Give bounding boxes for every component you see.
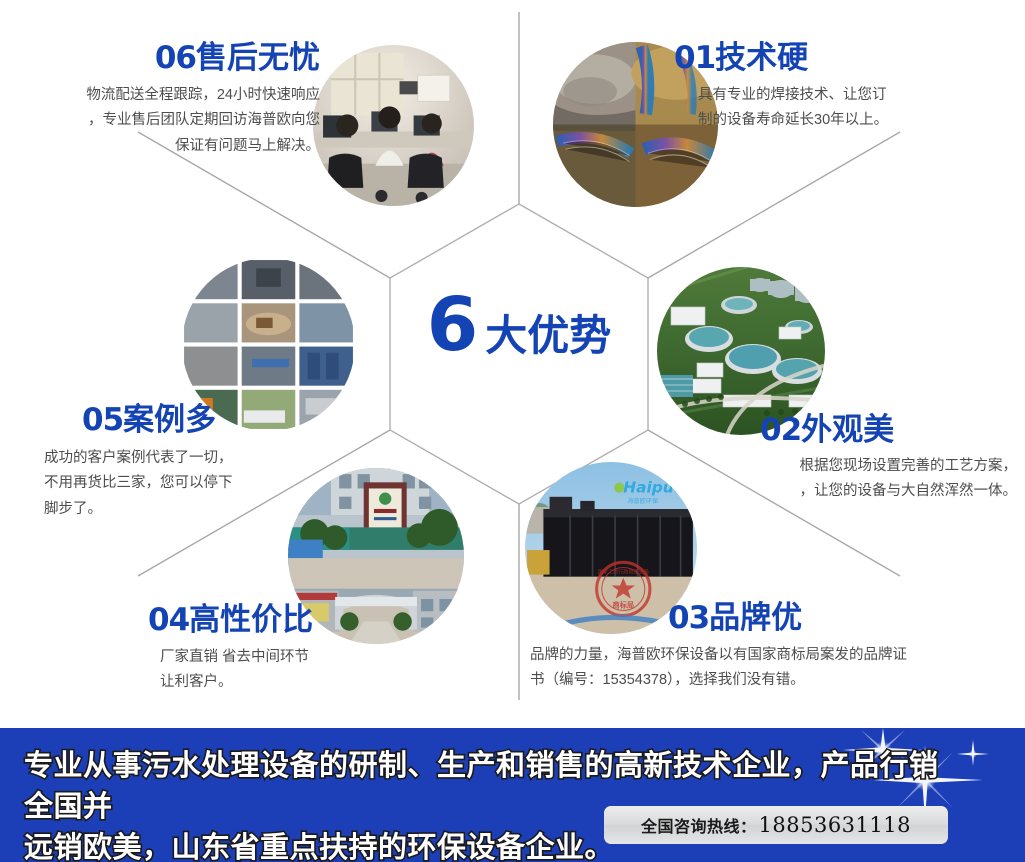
feature-title-03: 03品牌优: [530, 602, 990, 634]
feature-title-02: 02外观美: [700, 414, 1025, 446]
feature-body-04: 厂家直销 省去中间环节 让利客户。: [120, 645, 450, 696]
hotline-badge[interactable]: 全国咨询热线： 18853631118: [604, 806, 948, 844]
feature-number-04: 04: [148, 602, 189, 638]
center-label-text: 大优势: [485, 315, 611, 357]
svg-text:海普欧环保: 海普欧环保: [627, 497, 658, 505]
feature-block-02: 02外观美 根据您现场设置完善的工艺方案， ，让您的设备与大自然浑然一体。: [700, 414, 1025, 505]
feature-body-02: 根据您现场设置完善的工艺方案， ，让您的设备与大自然浑然一体。: [700, 454, 1025, 505]
feature-number-02: 02: [760, 412, 801, 448]
feature-title-text-04: 高性价比: [189, 602, 313, 637]
promo-banner-page: Haipuou 海普欧环保 商标局 国家工商行政管理总局 6 大优势 06售后无…: [0, 0, 1025, 862]
feature-title-04: 04高性价比: [120, 604, 450, 636]
feature-body-06: 物流配送全程跟踪，24小时快速响应 ，专业售后团队定期回访海普欧向您 保证有问题…: [0, 83, 330, 159]
feature-title-text-05: 案例多: [123, 402, 216, 437]
center-headline: 6 大优势: [404, 288, 634, 368]
photo-circle-aerial-treatment-plant: [657, 267, 825, 435]
feature-title-05: 05案例多: [0, 404, 305, 436]
feature-title-text-06: 售后无忧: [196, 40, 320, 75]
feature-title-text-02: 外观美: [801, 412, 894, 447]
hotline-label: 全国咨询热线：: [641, 813, 757, 837]
feature-number-05: 05: [82, 402, 123, 438]
feature-block-05: 05案例多 成功的客户案例代表了一切， 不用再货比三家，您可以停下 脚步了。: [0, 404, 305, 522]
feature-body-03: 品牌的力量，海普欧环保设备以有国家商标局案发的品牌证 书（编号：15354378…: [530, 643, 990, 694]
svg-text:Haipuou: Haipuou: [623, 479, 695, 497]
feature-number-01: 01: [674, 40, 715, 76]
feature-block-04: 04高性价比 厂家直销 省去中间环节 让利客户。: [120, 604, 450, 696]
feature-title-text-03: 品牌优: [709, 600, 802, 635]
feature-title-text-01: 技术硬: [715, 40, 808, 75]
feature-block-06: 06售后无忧 物流配送全程跟踪，24小时快速响应 ，专业售后团队定期回访海普欧向…: [0, 42, 330, 159]
feature-title-06: 06售后无忧: [0, 42, 330, 74]
feature-number-03: 03: [668, 600, 709, 636]
hotline-number: 18853631118: [759, 813, 911, 837]
svg-text:国家工商行政管理总局: 国家工商行政管理总局: [598, 569, 649, 576]
feature-body-05: 成功的客户案例代表了一切， 不用再货比三家，您可以停下 脚步了。: [0, 446, 305, 522]
banner-headline: 专业从事污水处理设备的研制、生产和销售的高新技术企业，产品行销全国并 远销欧美，…: [24, 746, 959, 862]
center-number: 6: [427, 288, 477, 362]
feature-body-01: 具有专业的焊接技术、让您订 制的设备寿命延长30年以上。: [674, 83, 1024, 134]
feature-number-06: 06: [155, 40, 196, 76]
feature-title-01: 01技术硬: [674, 42, 1024, 74]
feature-block-01: 01技术硬 具有专业的焊接技术、让您订 制的设备寿命延长30年以上。: [674, 42, 1024, 134]
photo-circle-office-staff: [313, 45, 474, 206]
feature-block-03: 03品牌优 品牌的力量，海普欧环保设备以有国家商标局案发的品牌证 书（编号：15…: [530, 602, 990, 694]
